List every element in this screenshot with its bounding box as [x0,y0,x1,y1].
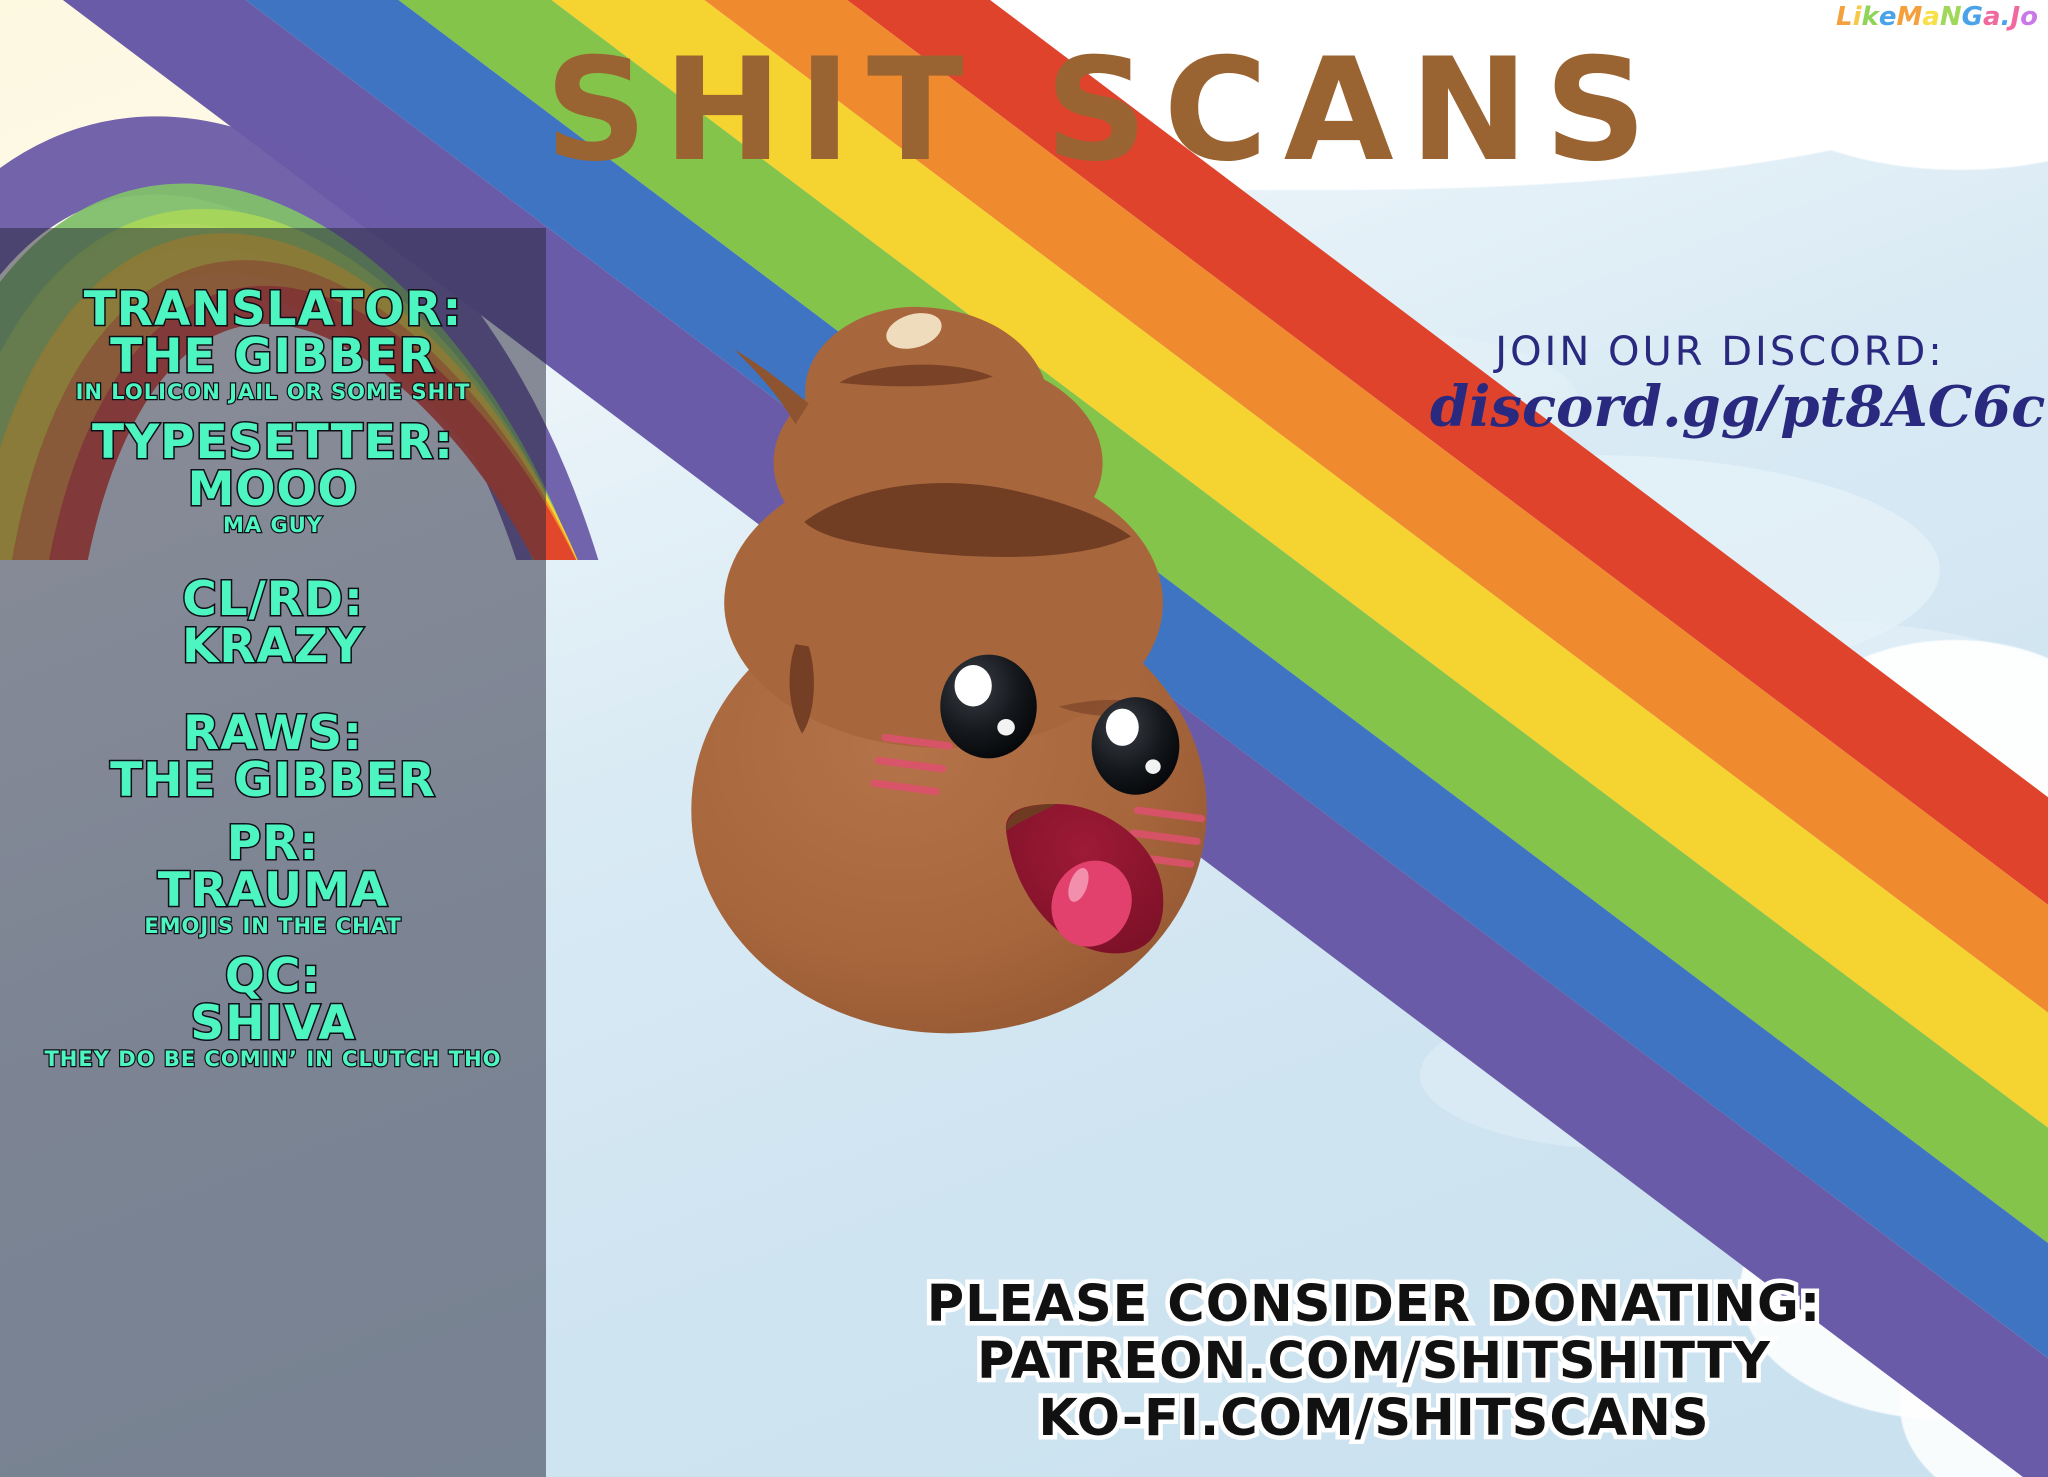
credit-role: TRANSLATOR: [0,280,546,333]
credit-note: EMOJIS IN THE CHAT [0,914,546,937]
site-watermark: LikeMaNGa.Jo [1836,2,2038,32]
credit-name: THE GIBBER [0,333,546,380]
watermark-letter: a [1983,2,2001,32]
credit-note: IN LOLICON JAIL OR SOME SHIT [0,380,546,403]
watermark-letter: . [2001,2,2011,32]
credits-spacer [0,670,546,704]
credit-role: CL/RD: [0,570,546,623]
credit-note: THEY DO BE COMIN’ IN CLUTCH THO [0,1047,546,1070]
credit-role: TYPESETTER: [0,413,546,466]
credit-name: TRAUMA [0,867,546,914]
watermark-letter: e [1879,2,1897,32]
credit-name: SHIVA [0,1000,546,1047]
credit-note: MA GUY [0,513,546,536]
credits-spacer [0,403,546,413]
watermark-letter: J [2010,2,2020,32]
watermark-letter: a [1922,2,1940,32]
poop-mascot [620,250,1300,1080]
credits-spacer [0,536,546,570]
credit-name: MOOO [0,466,546,513]
watermark-letter: M [1896,2,1922,32]
credits-spacer [0,937,546,947]
watermark-letter: L [1836,2,1853,32]
donate-line-2[interactable]: PATREON.COM/SHITSHITTY [700,1333,2048,1390]
credits-panel: TRANSLATOR:THE GIBBERIN LOLICON JAIL OR … [0,228,546,1477]
watermark-letter: o [2020,2,2038,32]
donate-line-3[interactable]: KO-FI.COM/SHITSCANS [700,1390,2048,1447]
watermark-letter: G [1962,2,1983,32]
credit-name: THE GIBBER [0,757,546,804]
donate-line-1: PLEASE CONSIDER DONATING: [700,1276,2048,1333]
credits-list: TRANSLATOR:THE GIBBERIN LOLICON JAIL OR … [0,228,546,1070]
credit-name: KRAZY [0,623,546,670]
watermark-letter: k [1862,2,1879,32]
credit-role: QC: [0,947,546,1000]
page-title: SHIT SCANS [545,40,2015,182]
credit-role: RAWS: [0,704,546,757]
discord-block: JOIN OUR DISCORD: discord.gg/pt8AC6c [1430,330,2010,439]
watermark-letter: i [1853,2,1862,32]
discord-url[interactable]: discord.gg/pt8AC6c [1430,375,2010,439]
eye-left [940,655,1037,759]
watermark-letter: N [1940,2,1962,32]
donate-block: PLEASE CONSIDER DONATING: PATREON.COM/SH… [700,1276,2048,1447]
eye-right [1092,697,1180,795]
discord-label: JOIN OUR DISCORD: [1430,330,2010,375]
credit-role: PR: [0,814,546,867]
credits-page: SHIT SCANS LikeMaNGa.Jo JOIN OUR DISCORD… [0,0,2048,1477]
